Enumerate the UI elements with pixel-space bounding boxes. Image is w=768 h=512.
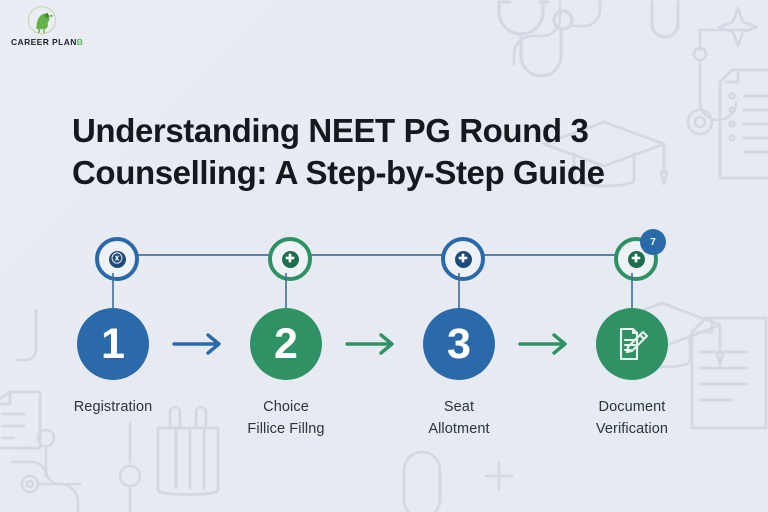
bird-in-circle-icon [26, 5, 58, 37]
sparkle-icon [719, 8, 757, 46]
timeline-node-1[interactable]: ⓧ [95, 237, 139, 281]
step-number-2: 2 [274, 323, 298, 366]
arrow-icon-1 [172, 332, 228, 356]
arrow-icon-2 [345, 332, 401, 356]
pin-marker-icon: ⓧ [109, 251, 126, 268]
plus-marker-icon: ✚ [282, 251, 299, 268]
page-title-line1: Understanding NEET PG Round 3 [72, 112, 588, 149]
step-label-2: ChoiceFillice Fillng [201, 396, 371, 441]
step-number-3: 3 [447, 323, 471, 366]
steps-row: 1 2 3 [0, 305, 768, 405]
clipboard-checklist-icon [720, 70, 768, 178]
step-circle-4[interactable] [596, 308, 668, 380]
arrow-icon-3 [518, 332, 574, 356]
brand-accent-letter: B [77, 37, 84, 47]
brand-name: CAREER PLANB [11, 37, 83, 47]
step-label-4: DocumentVerification [547, 396, 717, 441]
steps-labels-row: Registration ChoiceFillice Fillng SeatAl… [0, 396, 768, 466]
document-pencil-icon [610, 322, 654, 366]
plus-marker-icon: ✚ [455, 251, 472, 268]
circuit-line-icon [572, 0, 600, 26]
step-number-1: 1 [101, 323, 125, 366]
step-circle-1[interactable]: 1 [77, 308, 149, 380]
timeline-node-2[interactable]: ✚ [268, 237, 312, 281]
poster-canvas: CAREER PLANB Understanding NEET PG Round… [0, 0, 768, 512]
step-circle-2[interactable]: 2 [250, 308, 322, 380]
stethoscope-icon [499, 2, 572, 76]
sparkle-icon [486, 463, 512, 489]
page-title-line2: Counselling: A Step-by-Step Guide [72, 152, 672, 194]
rail-connector-line [113, 254, 632, 256]
paperclip-icon [652, 2, 678, 37]
step-label-3: SeatAllotment [374, 396, 544, 441]
page-title: Understanding NEET PG Round 3 Counsellin… [72, 110, 672, 194]
step-circle-3[interactable]: 3 [423, 308, 495, 380]
timeline-node-3[interactable]: ✚ [441, 237, 485, 281]
node-count-badge: 7 [640, 229, 666, 255]
brand-logo[interactable]: CAREER PLANB [8, 4, 94, 52]
circuit-line-icon [514, 2, 560, 64]
brand-name-text: CAREER PLAN [11, 37, 77, 47]
plus-marker-icon: ✚ [628, 251, 645, 268]
step-label-1: Registration [28, 396, 198, 418]
circuit-line-icon [688, 30, 746, 134]
